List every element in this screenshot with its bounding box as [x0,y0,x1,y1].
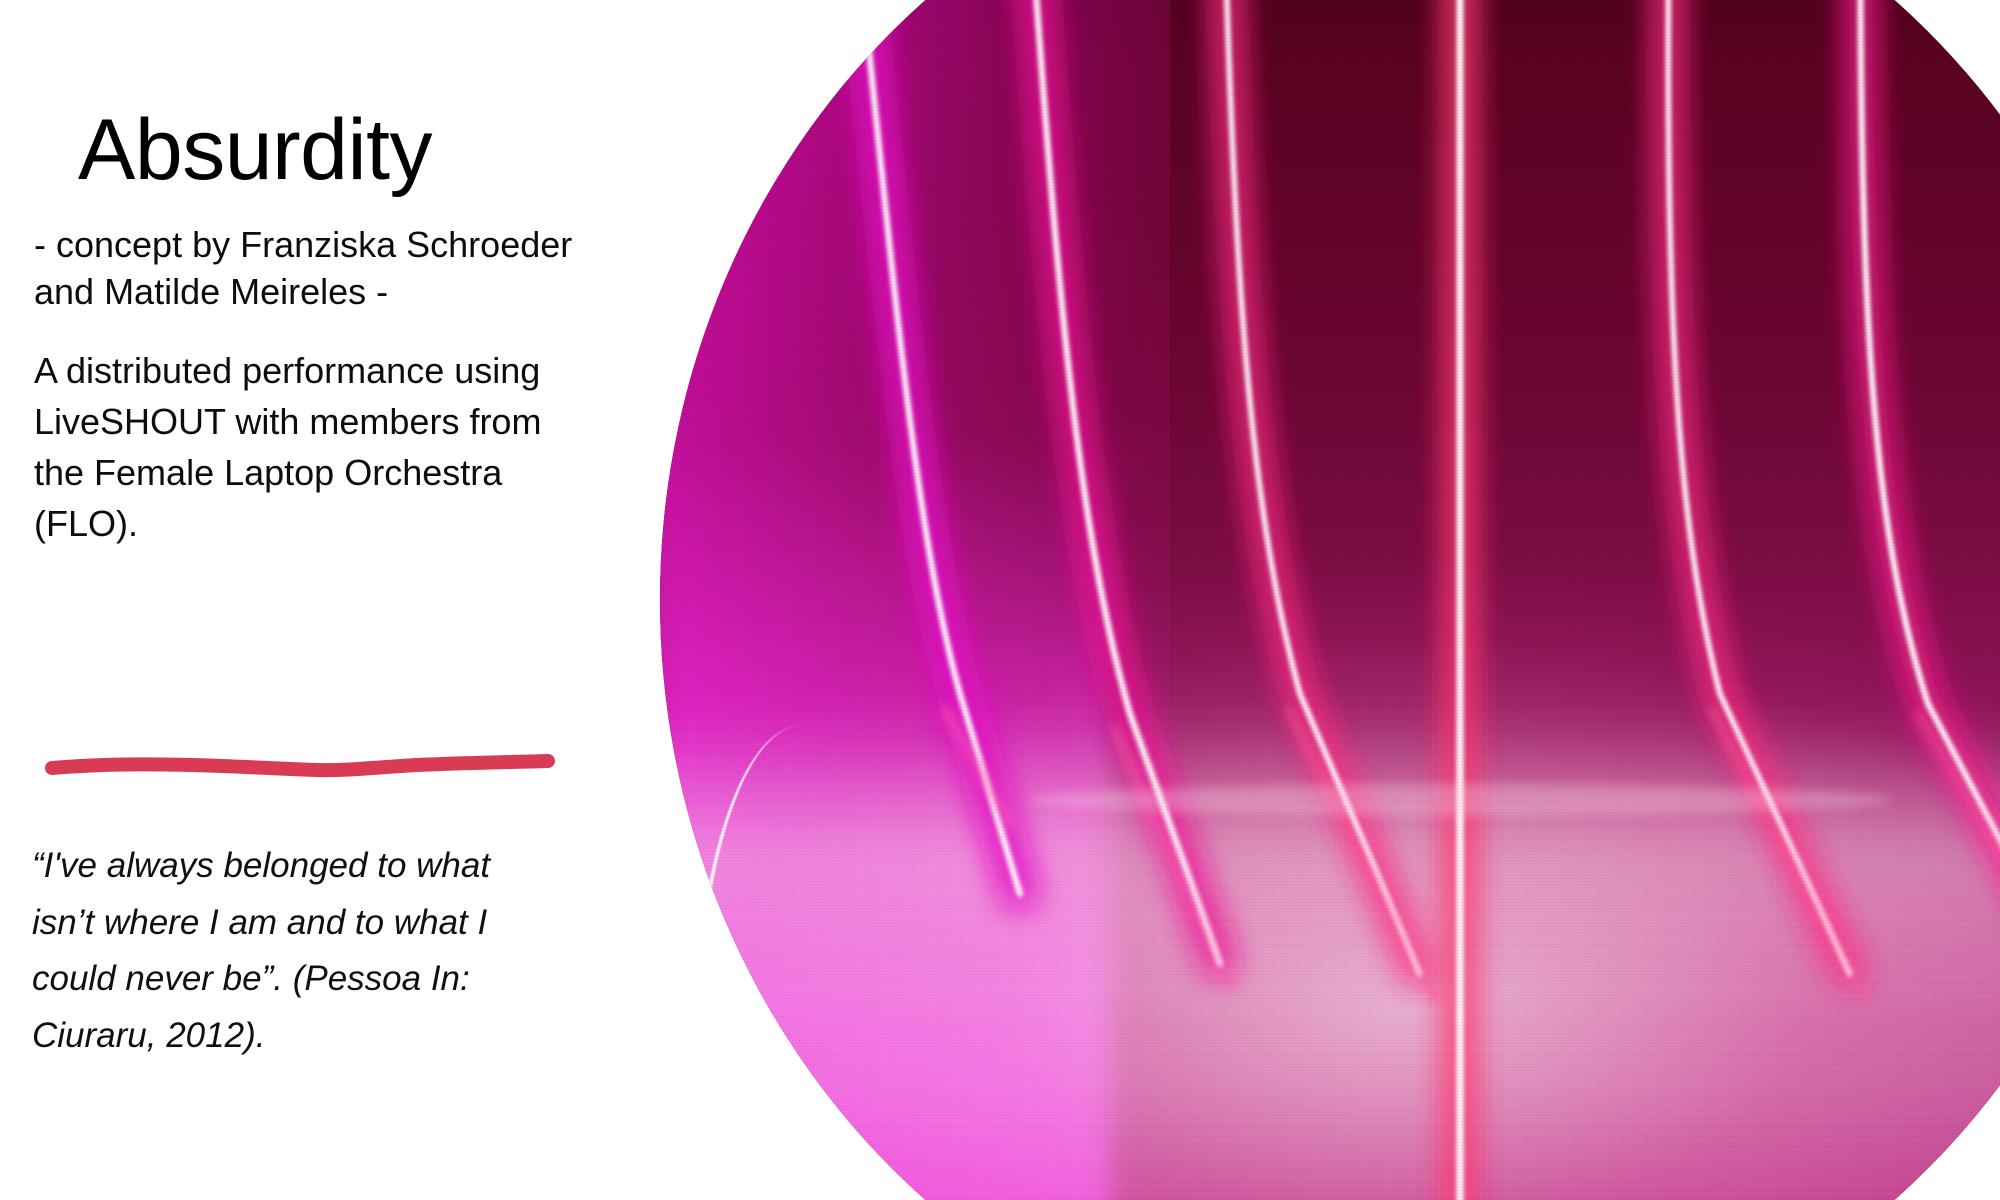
quote-line-4: Ciuraru, 2012). [32,1008,592,1065]
credit-block: - concept by Franziska Schroeder and Mat… [34,222,634,316]
quote-line-3: could never be”. (Pessoa In: [32,951,592,1008]
presentation-slide: Absurdity - concept by Franziska Schroed… [0,0,2000,1200]
credit-line-2: and Matilde Meireles - [34,269,634,316]
description-block: A distributed performance using LiveSHOU… [34,345,624,549]
quote-line-2: isn’t where I am and to what I [32,895,592,952]
page-title: Absurdity [78,105,432,195]
quote-block: “I've always belonged to what isn’t wher… [32,838,592,1065]
description-line-4: (FLO). [34,498,624,549]
quote-line-1: “I've always belonged to what [32,838,592,895]
red-underline-rule [48,752,560,786]
credit-line-1: - concept by Franziska Schroeder [34,222,634,269]
text-column: Absurdity - concept by Franziska Schroed… [0,0,800,1200]
neon-corridor-photo [660,0,2000,1200]
description-line-2: LiveSHOUT with members from [34,396,624,447]
description-line-1: A distributed performance using [34,345,624,396]
red-underline-icon [48,752,560,786]
description-line-3: the Female Laptop Orchestra [34,447,624,498]
